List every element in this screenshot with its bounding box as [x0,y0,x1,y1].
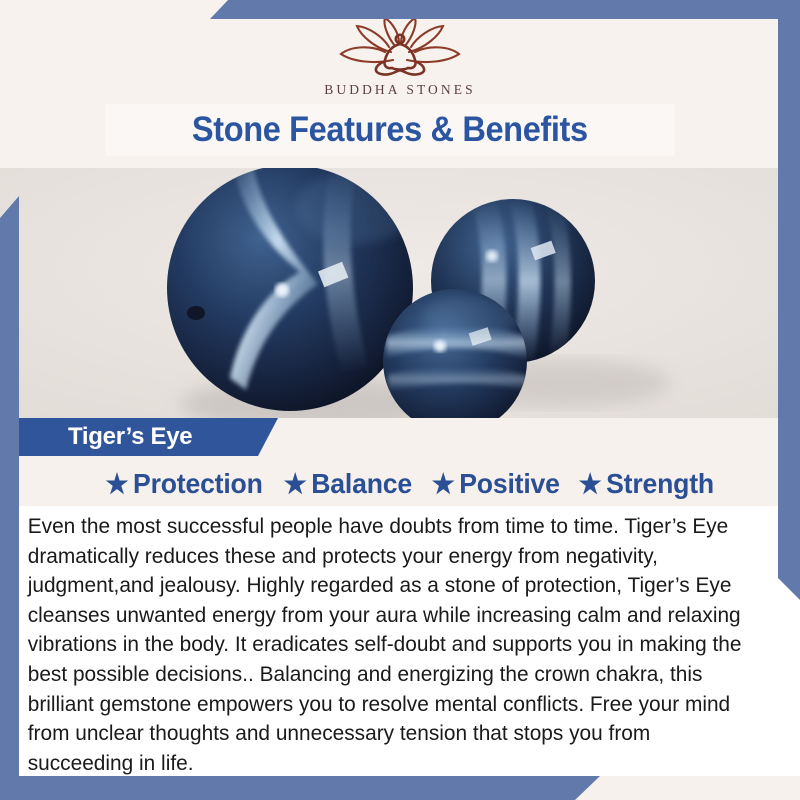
frame-right-accent [778,0,800,600]
header-section: BUDDHA STONES Stone Features & Benefits [0,0,800,168]
star-icon: ★ [579,471,602,498]
benefit-strength: ★ Strength [579,468,714,500]
lotus-meditation-figure-icon [325,16,475,78]
benefit-label: Positive [459,468,559,500]
benefit-balance: ★ Balance [283,468,424,500]
frame-bottom-accent [0,776,800,800]
stone-name: Tiger’s Eye [68,423,192,451]
stone-photo [0,168,800,418]
page-title: Stone Features & Benefits [192,110,588,150]
stone-name-banner: Tiger’s Eye [18,418,278,456]
stone-photo-illustration [0,168,800,418]
frame-left-accent [0,196,19,780]
description-panel: Even the most successful people have dou… [19,506,800,776]
benefit-label: Strength [607,468,715,500]
title-banner: Stone Features & Benefits [105,104,675,156]
benefit-protection: ★ Protection [106,468,276,500]
benefits-row: ★ Protection ★ Balance ★ Positive ★ Stre… [19,462,800,506]
benefit-label: Balance [311,468,412,500]
benefit-positive: ★ Positive [431,468,571,500]
brand-name: BUDDHA STONES [324,82,475,98]
brand-logo: BUDDHA STONES [0,16,800,98]
star-icon: ★ [106,471,129,498]
star-icon: ★ [431,471,454,498]
benefit-label: Protection [133,468,263,500]
star-icon: ★ [283,471,306,498]
infographic-page: BUDDHA STONES Stone Features & Benefits [0,0,800,800]
description-text: Even the most successful people have dou… [19,508,777,778]
